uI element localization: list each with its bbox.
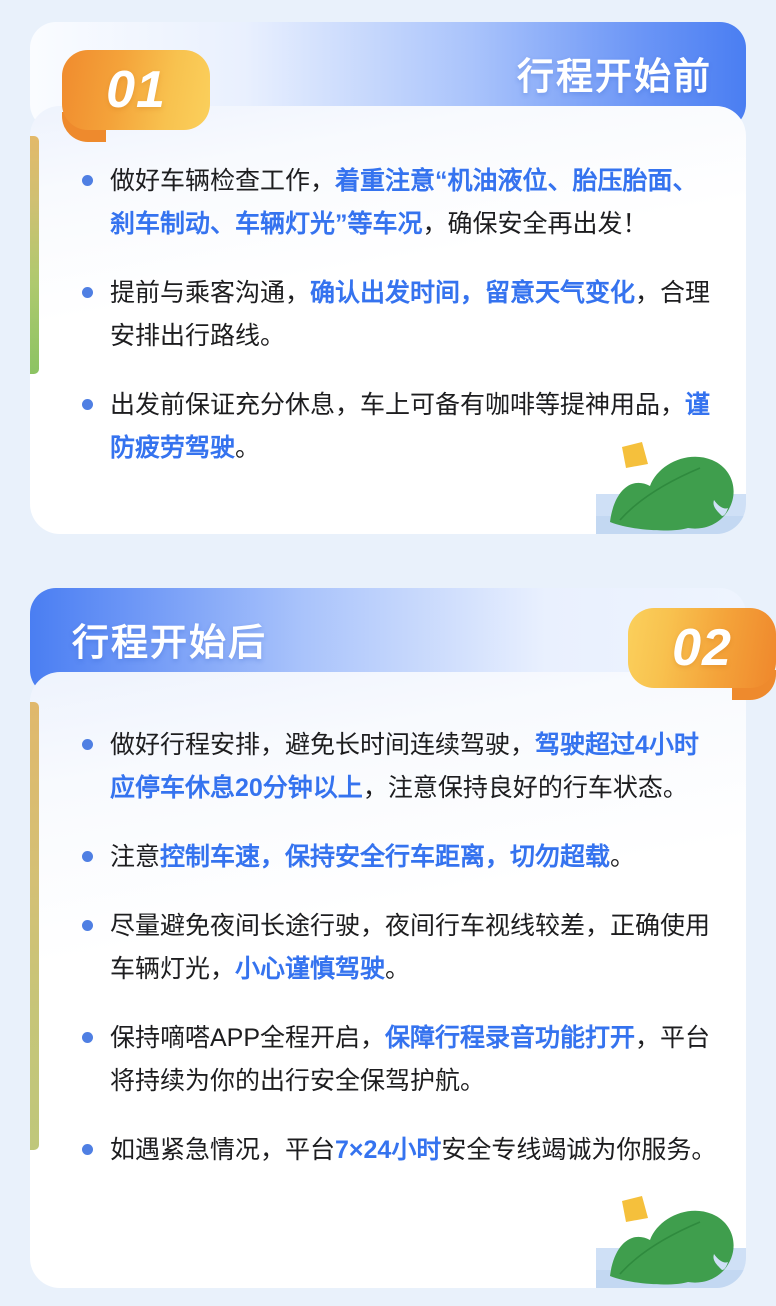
card-number-badge: 02 bbox=[628, 608, 776, 700]
bullet-dot-icon bbox=[82, 1032, 93, 1043]
plain-text: 安全专线竭诚为你服务。 bbox=[441, 1136, 716, 1164]
bullet-text: 做好行程安排，避免长时间连续驾驶，驾驶超过4小时应停车休息20分钟以上，注意保持… bbox=[110, 724, 718, 810]
bullet-item: 提前与乘客沟通，确认出发时间，留意天气变化，合理安排出行路线。 bbox=[70, 272, 718, 358]
bullet-item: 做好行程安排，避免长时间连续驾驶，驾驶超过4小时应停车休息20分钟以上，注意保持… bbox=[70, 724, 718, 810]
bullet-dot-icon bbox=[82, 739, 93, 750]
leaf-decoration bbox=[596, 1196, 746, 1288]
card-trip-before: 行程开始前 做好车辆检查工作，着重注意“机油液位、胎压胎面、刹车制动、车辆灯光”… bbox=[30, 22, 746, 534]
highlight-text: 保障行程录音功能打开 bbox=[385, 1024, 635, 1052]
bullet-text: 如遇紧急情况，平台7×24小时安全专线竭诚为你服务。 bbox=[110, 1129, 718, 1172]
plain-text: 做好行程安排，避免长时间连续驾驶， bbox=[110, 731, 535, 759]
bullet-text: 注意控制车速，保持安全行车距离，切勿超载。 bbox=[110, 836, 718, 879]
plain-text: 出发前保证充分休息，车上可备有咖啡等提神用品， bbox=[110, 391, 685, 419]
card-body: 做好行程安排，避免长时间连续驾驶，驾驶超过4小时应停车休息20分钟以上，注意保持… bbox=[30, 672, 746, 1288]
bullet-dot-icon bbox=[82, 920, 93, 931]
highlight-text: 小心谨慎驾驶 bbox=[235, 955, 385, 983]
accent-strip bbox=[30, 136, 39, 374]
bullet-text: 尽量避免夜间长途行驶，夜间行车视线较差，正确使用车辆灯光，小心谨慎驾驶。 bbox=[110, 905, 718, 991]
highlight-text: 7×24小时 bbox=[335, 1136, 441, 1164]
accent-strip bbox=[30, 702, 39, 1150]
bullet-item: 做好车辆检查工作，着重注意“机油液位、胎压胎面、刹车制动、车辆灯光”等车况，确保… bbox=[70, 160, 718, 246]
bullet-dot-icon bbox=[82, 1144, 93, 1155]
bullet-item: 尽量避免夜间长途行驶，夜间行车视线较差，正确使用车辆灯光，小心谨慎驾驶。 bbox=[70, 905, 718, 991]
card-body: 做好车辆检查工作，着重注意“机油液位、胎压胎面、刹车制动、车辆灯光”等车况，确保… bbox=[30, 106, 746, 534]
card-title: 行程开始前 bbox=[517, 46, 712, 100]
highlight-text: 控制车速，保持安全行车距离，切勿超载 bbox=[160, 843, 610, 871]
plain-text: ，注意保持良好的行车状态。 bbox=[363, 774, 688, 802]
bullet-text: 提前与乘客沟通，确认出发时间，留意天气变化，合理安排出行路线。 bbox=[110, 272, 718, 358]
bullet-dot-icon bbox=[82, 399, 93, 410]
bullet-item: 注意控制车速，保持安全行车距离，切勿超载。 bbox=[70, 836, 718, 879]
highlight-text: 确认出发时间，留意天气变化 bbox=[310, 279, 635, 307]
plain-text: 。 bbox=[385, 955, 410, 983]
plain-text: 。 bbox=[610, 843, 635, 871]
plain-text: 保持嘀嗒APP全程开启， bbox=[110, 1024, 385, 1052]
badge-number: 02 bbox=[628, 608, 776, 688]
infographic-page: 行程开始前 做好车辆检查工作，着重注意“机油液位、胎压胎面、刹车制动、车辆灯光”… bbox=[0, 0, 776, 1306]
bullet-dot-icon bbox=[82, 287, 93, 298]
plain-text: 如遇紧急情况，平台 bbox=[110, 1136, 335, 1164]
card-title: 行程开始后 bbox=[72, 612, 267, 666]
plain-text: ，确保安全再出发！ bbox=[423, 210, 648, 238]
bullet-text: 做好车辆检查工作，着重注意“机油液位、胎压胎面、刹车制动、车辆灯光”等车况，确保… bbox=[110, 160, 718, 246]
badge-number: 01 bbox=[62, 50, 210, 130]
plain-text: 做好车辆检查工作， bbox=[110, 167, 335, 195]
plain-text: 提前与乘客沟通， bbox=[110, 279, 310, 307]
bullet-text: 保持嘀嗒APP全程开启，保障行程录音功能打开，平台将持续为你的出行安全保驾护航。 bbox=[110, 1017, 718, 1103]
bullet-item: 如遇紧急情况，平台7×24小时安全专线竭诚为你服务。 bbox=[70, 1129, 718, 1172]
card-number-badge: 01 bbox=[62, 50, 210, 142]
bullet-item: 保持嘀嗒APP全程开启，保障行程录音功能打开，平台将持续为你的出行安全保驾护航。 bbox=[70, 1017, 718, 1103]
bullet-list: 做好行程安排，避免长时间连续驾驶，驾驶超过4小时应停车休息20分钟以上，注意保持… bbox=[70, 724, 718, 1198]
bullet-dot-icon bbox=[82, 851, 93, 862]
plain-text: 。 bbox=[235, 434, 260, 462]
bullet-dot-icon bbox=[82, 175, 93, 186]
plain-text: 注意 bbox=[110, 843, 160, 871]
leaf-decoration bbox=[596, 442, 746, 534]
